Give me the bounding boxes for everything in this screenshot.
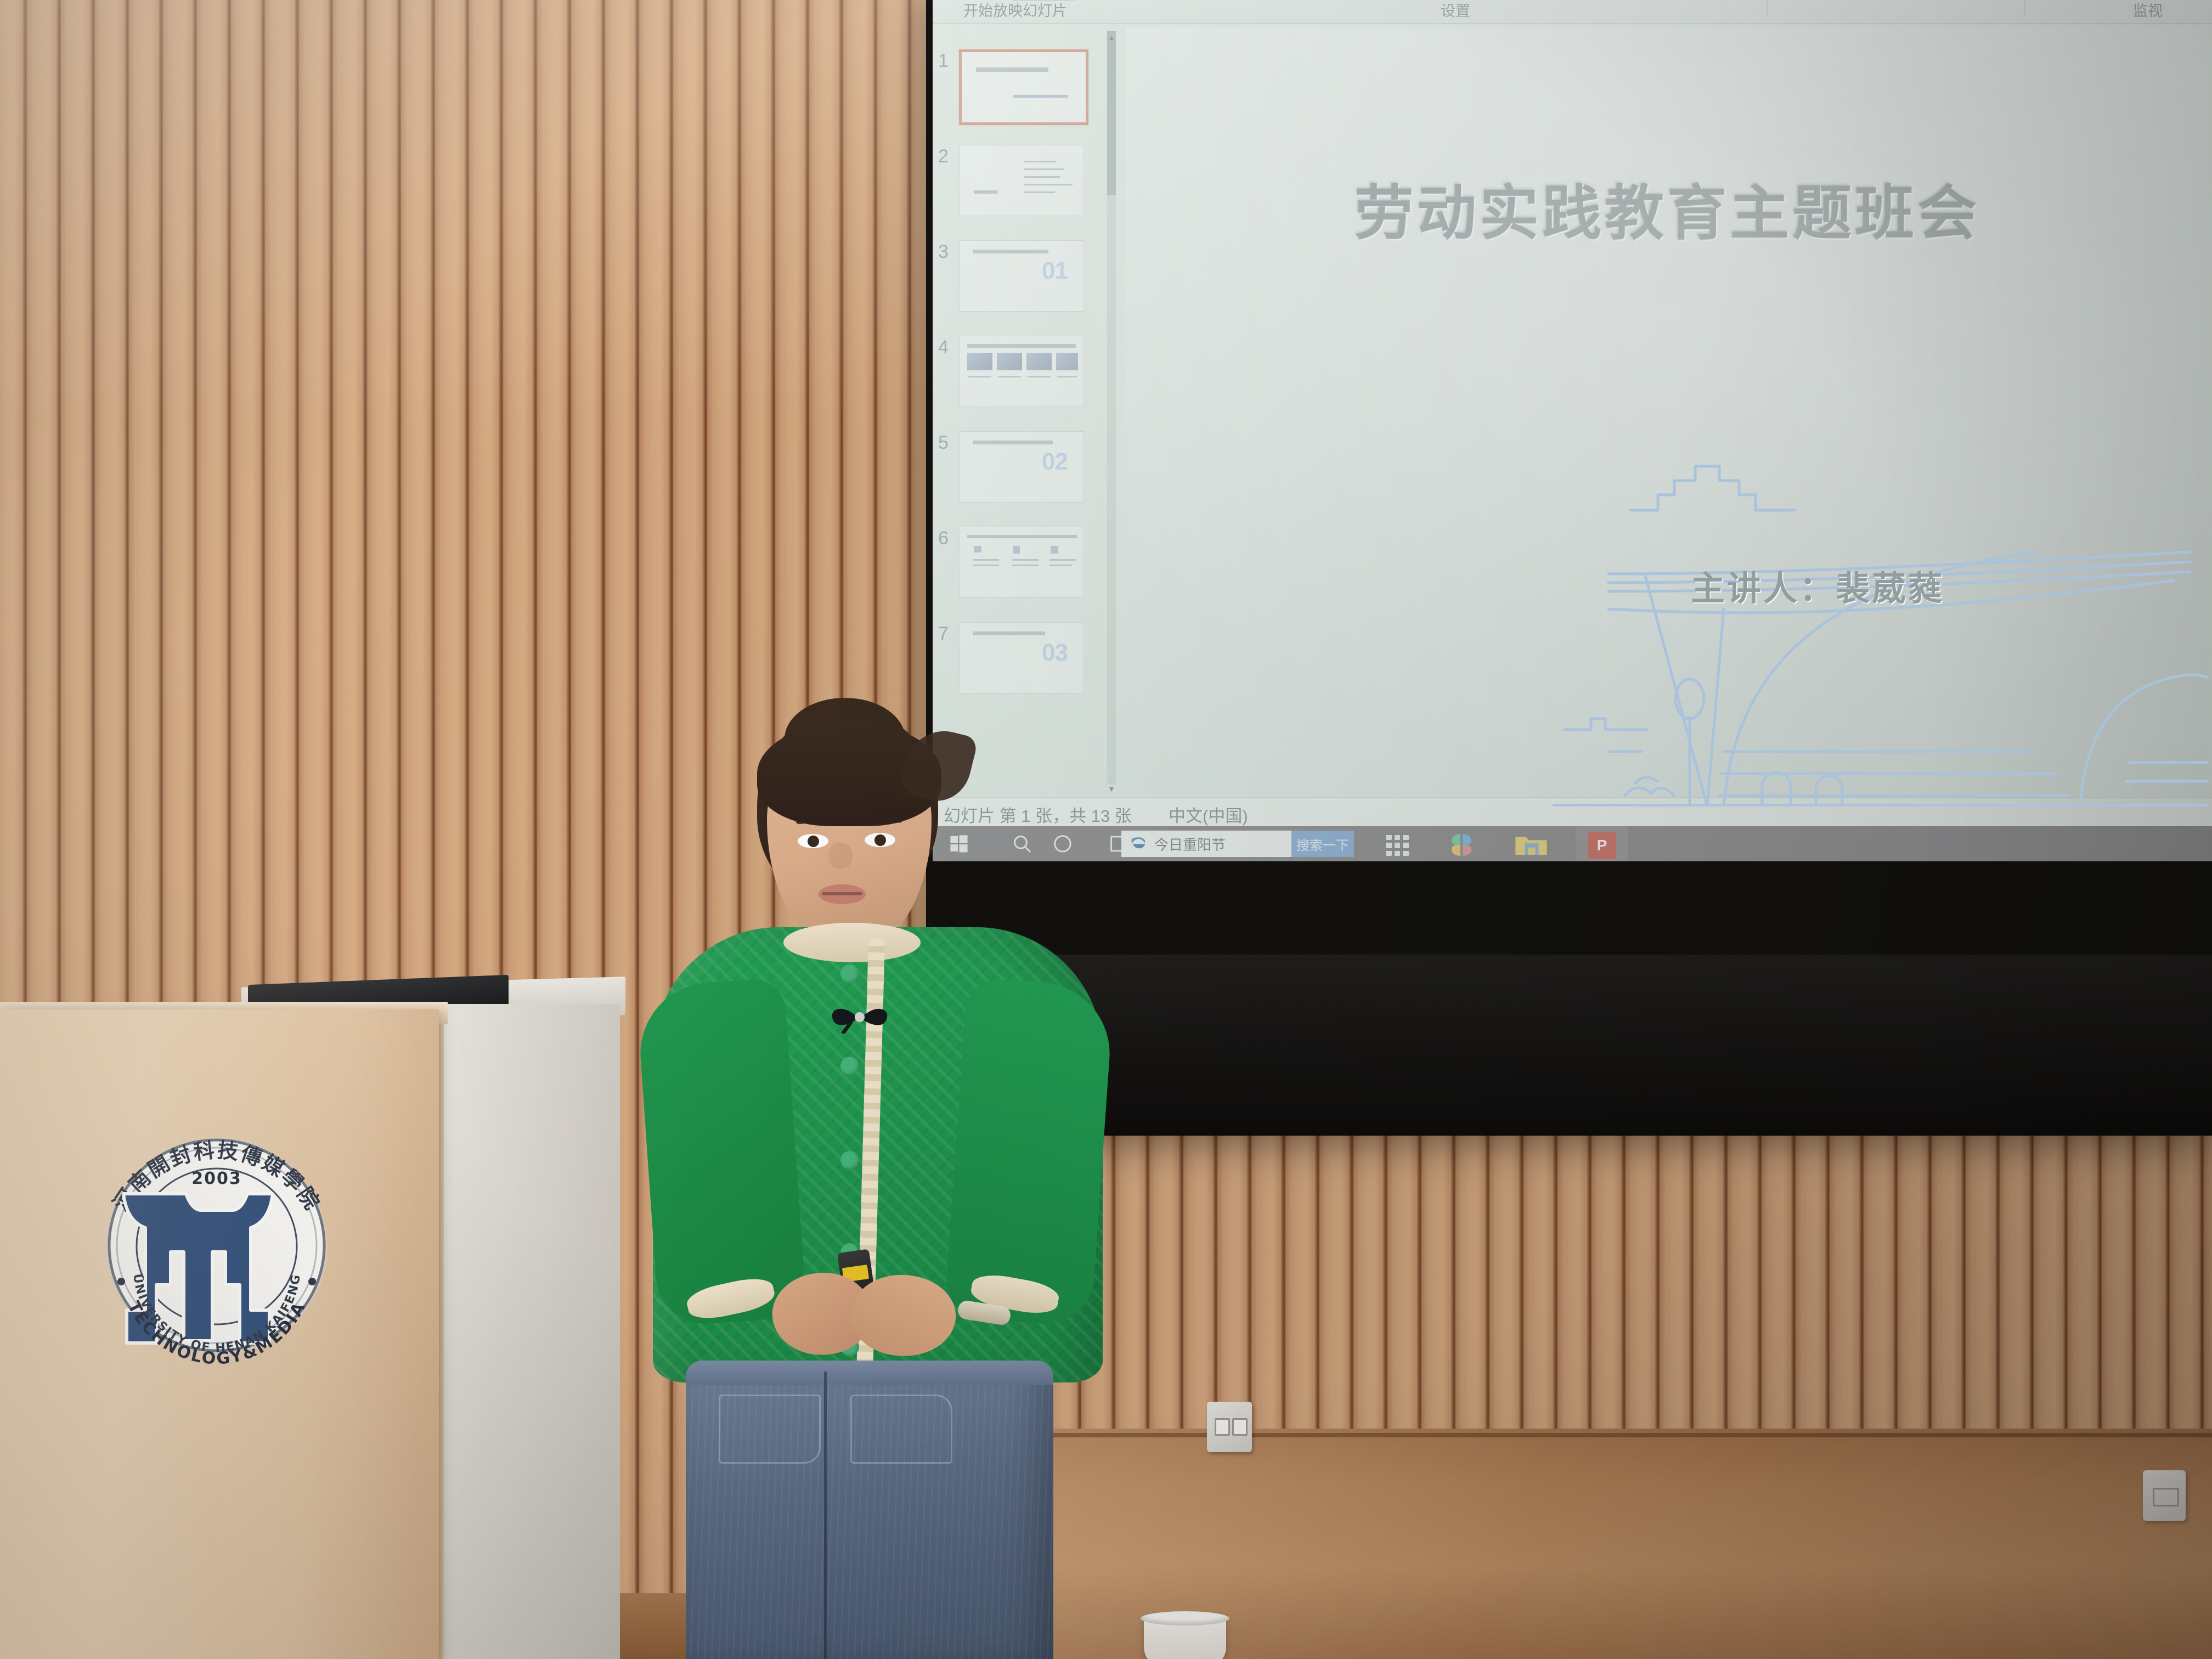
line-art-illustration [1543,444,2209,806]
lecture-room-photo: 开始 ▾ 幻灯片放映▾ 幻灯片放映 幻灯片 幻灯片放映 开始放映幻灯片 设置 监… [0,0,2212,1659]
slide-subtitle-presenter: 主讲人：裴葳蕤 [1691,561,1944,610]
wall-lighting-gradient [0,0,2212,1659]
